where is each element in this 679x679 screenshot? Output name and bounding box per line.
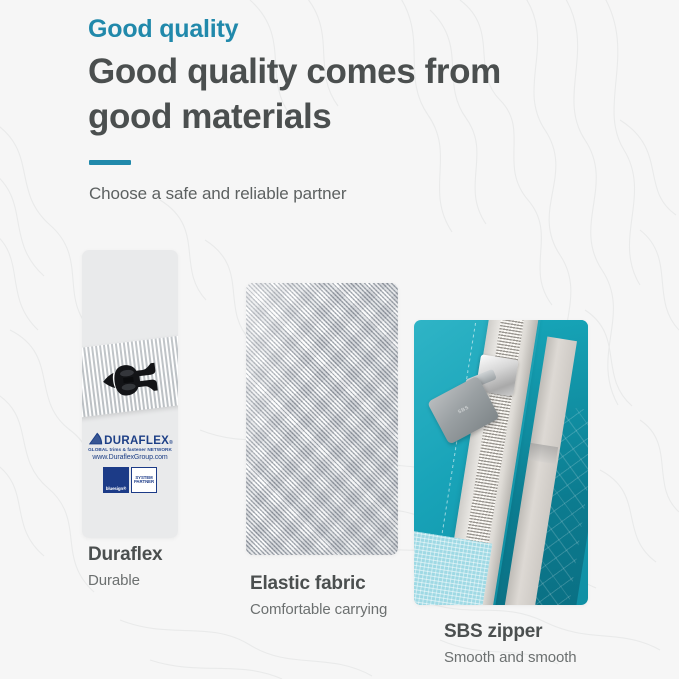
caption-subtitle: Durable [88, 572, 162, 591]
caption-subtitle: Smooth and smooth [444, 649, 577, 668]
system-partner-badge-line2: PARTNER [134, 480, 154, 485]
product-image-duraflex: DURAFLEX ® GLOBAL trims & fastener NETWO… [82, 250, 178, 538]
bluesign-badge: bluesign® [103, 467, 129, 493]
duraflex-logo-wordmark: DURAFLEX ® [82, 431, 178, 446]
product-image-sbs-zipper: SBS [414, 320, 588, 605]
caption-elastic-fabric: Elastic fabric Comfortable carrying [250, 572, 387, 620]
bluesign-badge-label: bluesign® [106, 486, 126, 491]
caption-title: Duraflex [88, 543, 162, 567]
page-subtitle: Choose a safe and reliable partner [89, 183, 628, 205]
page-title: Good quality comes from good materials [88, 50, 558, 140]
zipper-pull-tab-label: SBS [457, 404, 470, 415]
duraflex-triangle-icon [87, 431, 104, 446]
duraflex-logo-url: www.DuraflexGroup.com [82, 454, 178, 461]
caption-title: Elastic fabric [250, 572, 387, 596]
side-release-buckle-icon [92, 324, 168, 435]
product-image-elastic-fabric [246, 283, 398, 555]
duraflex-logo: DURAFLEX ® GLOBAL trims & fastener NETWO… [82, 431, 178, 493]
duraflex-registered-mark: ® [169, 441, 173, 446]
system-partner-badge: SYSTEM PARTNER [131, 467, 157, 493]
product-feature-page: Good quality Good quality comes from goo… [0, 0, 679, 679]
caption-title: SBS zipper [444, 620, 577, 644]
caption-sbs-zipper: SBS zipper Smooth and smooth [444, 620, 577, 668]
duraflex-logo-tagline: GLOBAL trims & fastener NETWORK [82, 447, 178, 452]
mesh-fabric-section [414, 531, 492, 605]
accent-divider [89, 160, 131, 165]
header-block: Good quality Good quality comes from goo… [88, 14, 628, 205]
fabric-lighting-overlay [246, 283, 398, 555]
eyebrow-label: Good quality [88, 14, 628, 44]
certification-badges: bluesign® SYSTEM PARTNER [82, 467, 178, 493]
caption-subtitle: Comfortable carrying [250, 601, 387, 620]
duraflex-logo-name: DURAFLEX [104, 436, 169, 448]
caption-duraflex: Duraflex Durable [88, 543, 162, 591]
